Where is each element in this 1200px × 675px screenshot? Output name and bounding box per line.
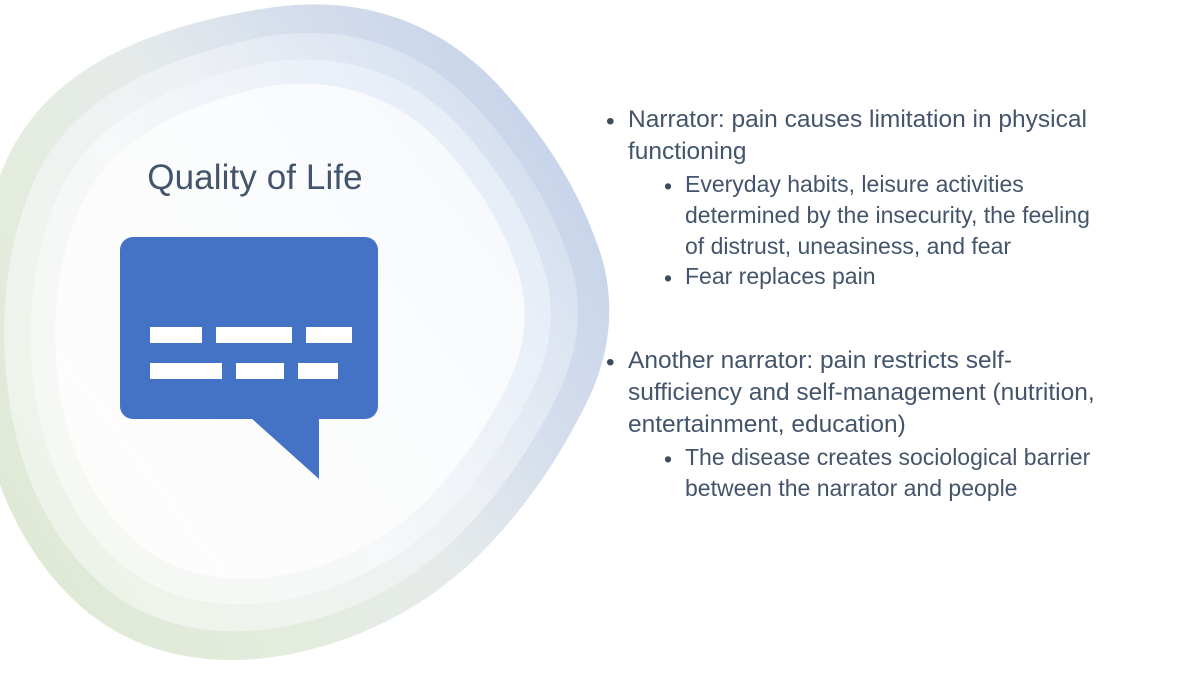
bullet-item-level1: • Another narrator: pain restricts self-… bbox=[598, 345, 1098, 504]
bullet-list-level1: • Another narrator: pain restricts self-… bbox=[598, 345, 1098, 504]
bubble-tail bbox=[250, 417, 319, 479]
speech-bubble-icon bbox=[118, 233, 380, 485]
bullet-text: Fear replaces pain bbox=[685, 261, 1098, 292]
paragraph-spacer bbox=[598, 293, 1098, 345]
presentation-slide: Quality of Life • bbox=[0, 0, 1200, 675]
bullet-item-level2: • Everyday habits, leisure activities de… bbox=[628, 169, 1098, 261]
bubble-dash-6 bbox=[298, 363, 338, 379]
bubble-dash-5 bbox=[236, 363, 284, 379]
page-title: Quality of Life bbox=[40, 158, 470, 198]
bullet-item-level2: • Fear replaces pain bbox=[628, 261, 1098, 292]
bullet-group: • Another narrator: pain restricts self-… bbox=[598, 345, 1098, 504]
bullet-item-level1: • Narrator: pain causes limitation in ph… bbox=[598, 104, 1098, 292]
bullet-text: Everyday habits, leisure activities dete… bbox=[685, 169, 1098, 261]
bullet-text: Another narrator: pain restricts self-su… bbox=[628, 345, 1098, 442]
bullet-marker-icon: • bbox=[664, 444, 672, 475]
bullet-text: The disease creates sociological barrier… bbox=[685, 442, 1098, 503]
bubble-dash-1 bbox=[150, 327, 202, 343]
bubble-dash-2 bbox=[216, 327, 292, 343]
bullet-marker-icon: • bbox=[664, 263, 672, 294]
bubble-dash-4 bbox=[150, 363, 222, 379]
bullet-marker-icon: • bbox=[606, 106, 615, 138]
bullet-text: Narrator: pain causes limitation in phys… bbox=[628, 104, 1098, 168]
bullet-group: • Narrator: pain causes limitation in ph… bbox=[598, 104, 1098, 292]
body-text-block: • Narrator: pain causes limitation in ph… bbox=[598, 104, 1098, 504]
bullet-marker-icon: • bbox=[664, 171, 672, 202]
bullet-list-level2: • Everyday habits, leisure activities de… bbox=[628, 169, 1098, 291]
left-visual-panel: Quality of Life bbox=[0, 0, 590, 675]
bullet-list-level1: • Narrator: pain causes limitation in ph… bbox=[598, 104, 1098, 292]
bubble-dash-3 bbox=[306, 327, 352, 343]
bullet-list-level2: • The disease creates sociological barri… bbox=[628, 442, 1098, 503]
bullet-item-level2: • The disease creates sociological barri… bbox=[628, 442, 1098, 503]
bullet-marker-icon: • bbox=[606, 347, 615, 379]
